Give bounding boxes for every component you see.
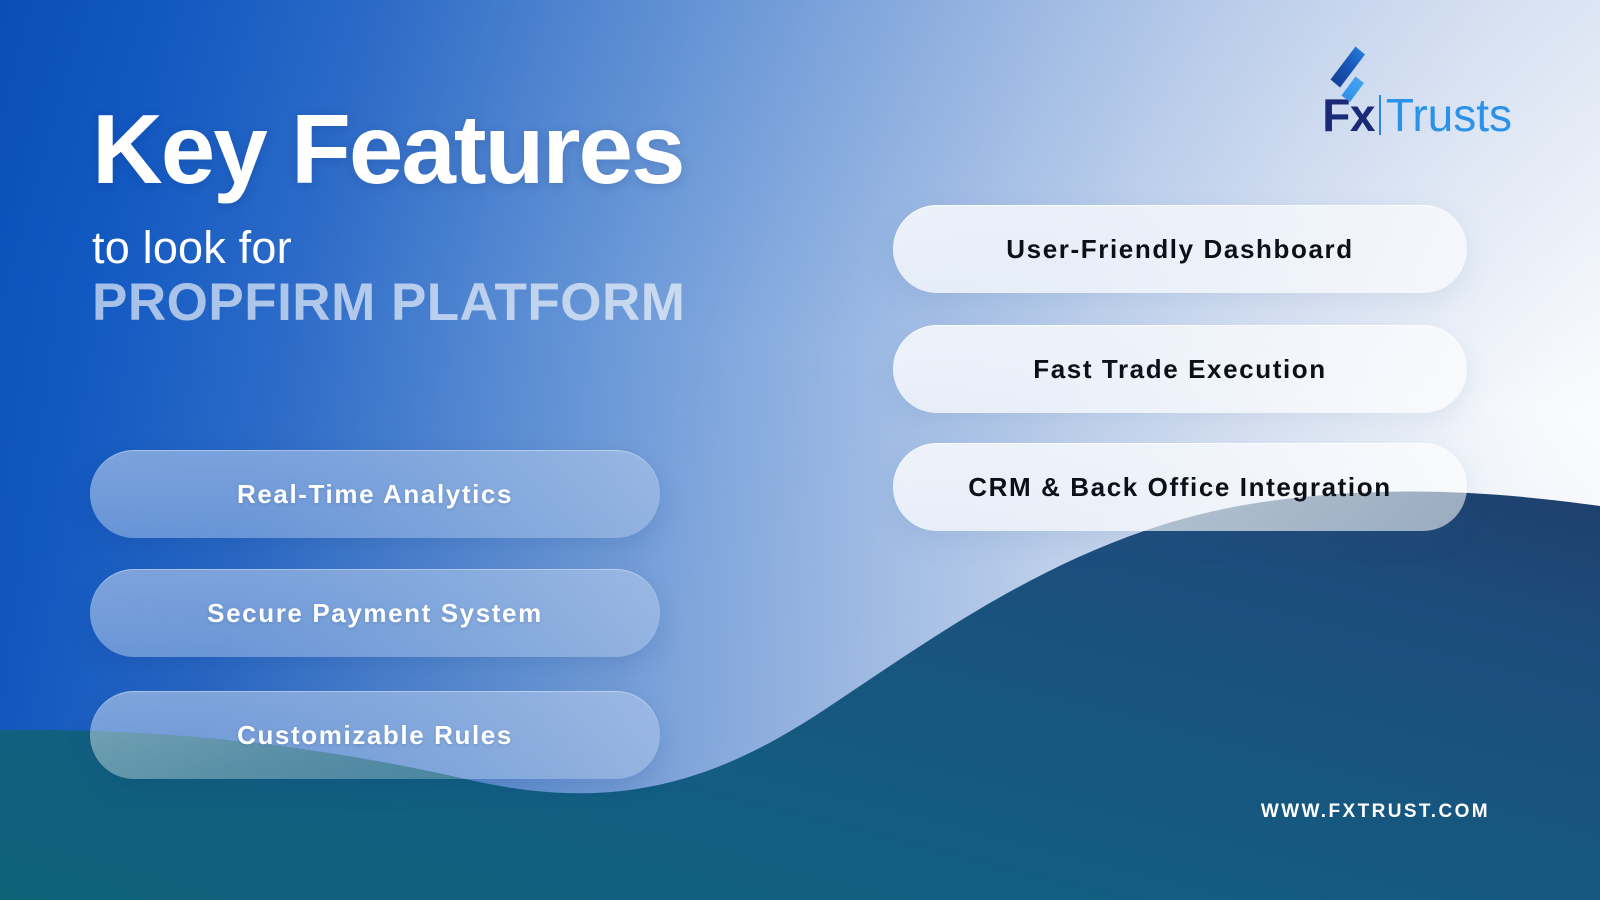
subtitle-line-2: PROPFIRM PLATFORM: [92, 275, 685, 331]
brand-divider-icon: [1379, 95, 1381, 135]
feature-pill-label: Secure Payment System: [207, 598, 543, 629]
feature-pill-real-time-analytics[interactable]: Real-Time Analytics: [90, 450, 660, 538]
feature-pill-fast-trade-execution[interactable]: Fast Trade Execution: [893, 325, 1467, 413]
feature-pill-crm-back-office-integration[interactable]: CRM & Back Office Integration: [893, 443, 1467, 531]
feature-pill-customizable-rules[interactable]: Customizable Rules: [90, 691, 660, 779]
brand-logo[interactable]: Fx Trusts: [1308, 44, 1512, 138]
feature-pill-label: CRM & Back Office Integration: [968, 472, 1391, 503]
feature-pill-label: Customizable Rules: [237, 720, 513, 751]
fxtrusts-mark-icon: [1308, 44, 1366, 106]
page-title: Key Features: [92, 100, 685, 198]
poster-canvas: Fx Trusts Key Features to look for PROPF…: [0, 0, 1600, 900]
website-url[interactable]: WWW.FXTRUST.COM: [1261, 801, 1490, 823]
feature-pill-label: User-Friendly Dashboard: [1006, 234, 1353, 265]
feature-pill-label: Fast Trade Execution: [1033, 354, 1327, 385]
feature-pill-secure-payment-system[interactable]: Secure Payment System: [90, 569, 660, 657]
bottom-wave-decoration: [0, 480, 1600, 900]
subtitle-line-1: to look for: [92, 224, 685, 271]
brand-name-secondary: Trusts: [1386, 92, 1512, 138]
feature-pill-user-friendly-dashboard[interactable]: User-Friendly Dashboard: [893, 205, 1467, 293]
feature-pill-label: Real-Time Analytics: [237, 479, 513, 510]
headline-block: Key Features to look for PROPFIRM PLATFO…: [92, 100, 685, 331]
